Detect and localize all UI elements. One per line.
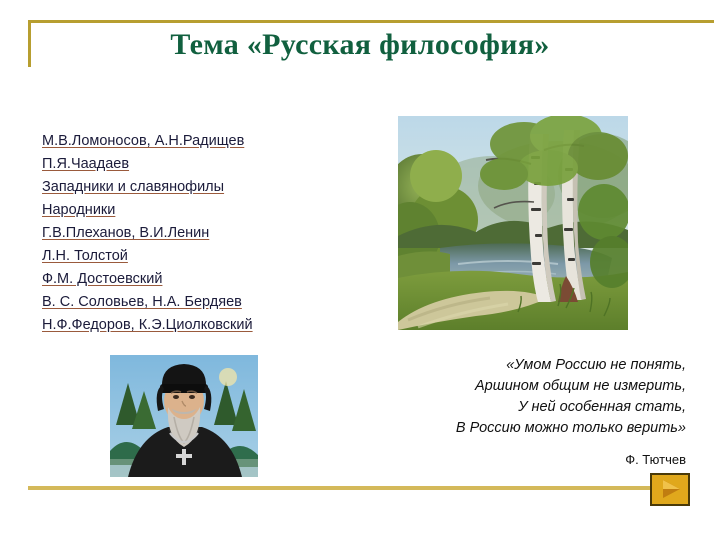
quote-block: «Умом Россию не понять, Аршином общим не… <box>386 355 686 439</box>
topic-list: М.В.Ломоносов, А.Н.Радищев П.Я.Чаадаев З… <box>42 130 372 337</box>
quote-line-1: «Умом Россию не понять, <box>386 355 686 376</box>
quote-line-3: У ней особенная стать, <box>386 397 686 418</box>
topic-link-7[interactable]: Ф.М. Достоевский <box>42 268 372 291</box>
topic-link-6[interactable]: Л.Н. Толстой <box>42 245 372 268</box>
bottom-accent-rule <box>28 486 656 490</box>
slide-canvas: Тема «Русская философия» М.В.Ломоносов, … <box>0 0 720 540</box>
slide-title: Тема «Русская философия» <box>40 28 680 62</box>
quote-line-2: Аршином общим не измерить, <box>386 376 686 397</box>
top-accent-rule <box>28 20 714 23</box>
orthodox-monk-portrait <box>110 355 258 477</box>
topic-link-1[interactable]: М.В.Ломоносов, А.Н.Радищев <box>42 130 372 153</box>
topic-link-5[interactable]: Г.В.Плеханов, В.И.Ленин <box>42 222 372 245</box>
quote-author: Ф. Тютчев <box>386 452 686 467</box>
topic-link-3[interactable]: Западники и славянофилы <box>42 176 372 199</box>
topic-link-2[interactable]: П.Я.Чаадаев <box>42 153 372 176</box>
birch-landscape-painting <box>398 116 628 330</box>
topic-link-8[interactable]: В. С. Соловьев, Н.А. Бердяев <box>42 291 372 314</box>
left-accent-rule <box>28 20 31 67</box>
next-slide-button[interactable] <box>650 473 690 506</box>
quote-line-4: В Россию можно только верить» <box>386 418 686 439</box>
topic-link-9[interactable]: Н.Ф.Федоров, К.Э.Циолковский <box>42 314 372 337</box>
topic-link-4[interactable]: Народники <box>42 199 372 222</box>
